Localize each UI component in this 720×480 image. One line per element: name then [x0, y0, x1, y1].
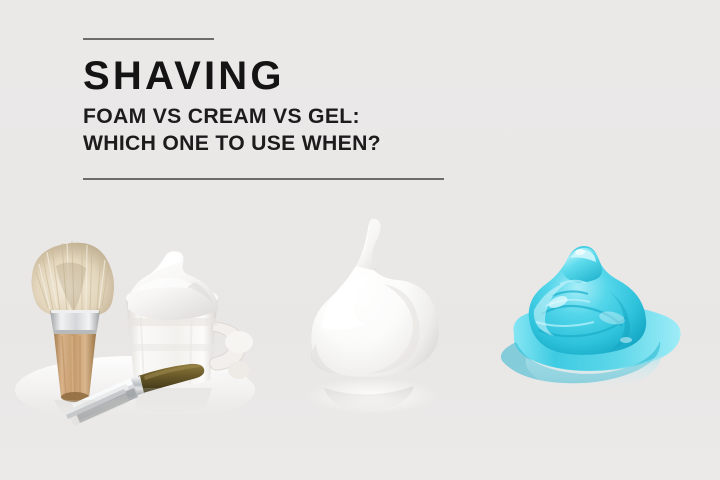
page-title: SHAVING	[83, 54, 462, 98]
shaving-gel-illustration	[500, 218, 700, 418]
product-shaving-gel	[500, 218, 700, 418]
divider-bottom	[83, 178, 444, 180]
title-block: SHAVING FOAM VS CREAM VS GEL: WHICH ONE …	[82, 38, 462, 180]
foam-swirl	[311, 219, 439, 377]
subtitle-line-1: FOAM VS CREAM VS GEL:	[83, 104, 456, 129]
product-shaving-foam	[300, 218, 450, 418]
product-shaving-kit	[10, 218, 260, 418]
subtitle-line-2: WHICH ONE TO USE WHEN?	[83, 131, 456, 156]
lather-foam	[128, 251, 218, 320]
divider-top	[83, 38, 214, 40]
shaving-foam-illustration	[300, 218, 450, 418]
divider-bottom-wrap	[82, 178, 462, 180]
shaving-kit-illustration	[10, 218, 260, 423]
banner-image: SHAVING FOAM VS CREAM VS GEL: WHICH ONE …	[0, 0, 720, 480]
product-row	[0, 218, 720, 438]
